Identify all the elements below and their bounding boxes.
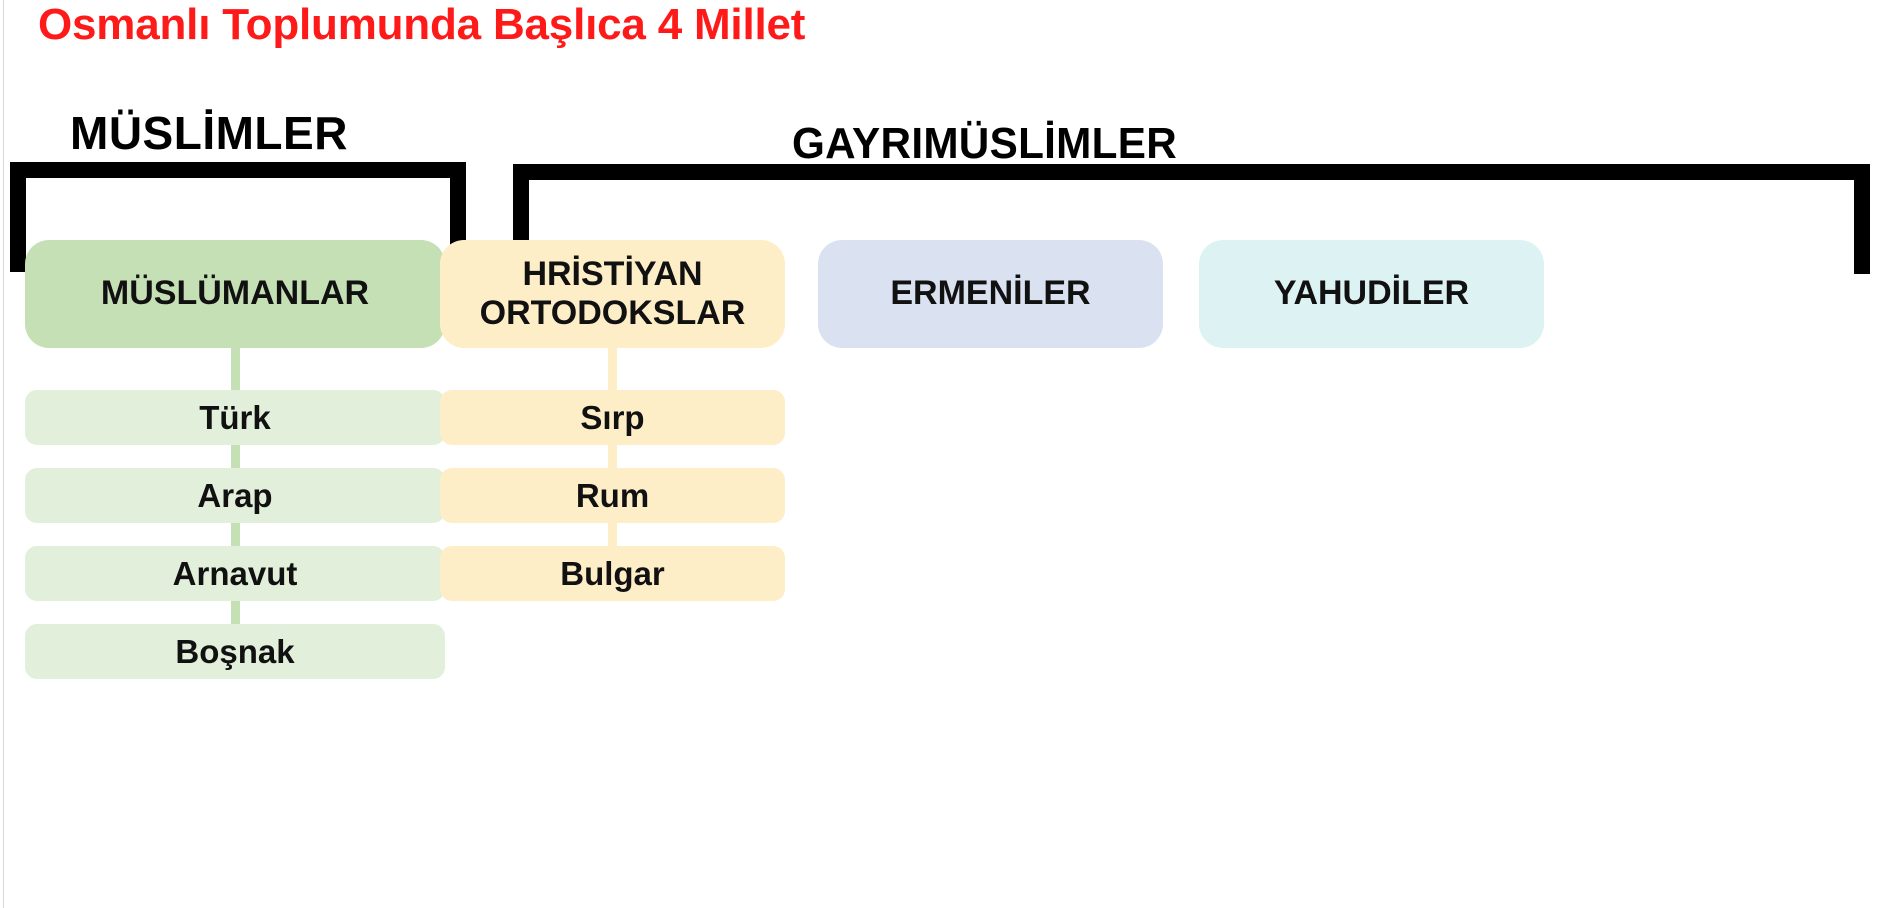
bracket-gayrimuslim-right-tick <box>1854 164 1870 274</box>
node-head-label: MÜSLÜMANLAR <box>101 274 369 313</box>
node-sub-hristiyan-ortodokslar-2[interactable]: Bulgar <box>440 546 785 601</box>
connector-muslumanlar-3 <box>231 601 240 624</box>
node-sub-label: Arnavut <box>173 555 298 593</box>
page-title: Osmanlı Toplumunda Başlıca 4 Millet <box>38 2 805 48</box>
node-sub-muslumanlar-3[interactable]: Boşnak <box>25 624 445 679</box>
node-sub-label: Bulgar <box>560 555 665 593</box>
connector-hristiyan-ortodokslar-1 <box>608 445 617 468</box>
node-head-yahudiler[interactable]: YAHUDİLER <box>1199 240 1544 348</box>
node-sub-label: Türk <box>199 399 271 437</box>
node-sub-muslumanlar-2[interactable]: Arnavut <box>25 546 445 601</box>
node-sub-label: Rum <box>576 477 649 515</box>
node-head-muslumanlar[interactable]: MÜSLÜMANLAR <box>25 240 445 348</box>
connector-hristiyan-ortodokslar-0 <box>608 348 617 390</box>
node-head-label: YAHUDİLER <box>1274 274 1469 313</box>
node-sub-label: Sırp <box>580 399 644 437</box>
connector-hristiyan-ortodokslar-2 <box>608 523 617 546</box>
bracket-muslim-left-tick <box>10 162 26 272</box>
group-label-gayrimuslim: GAYRIMÜSLİMLER <box>792 122 1177 166</box>
node-sub-label: Arap <box>197 477 272 515</box>
node-head-label: HRİSTİYAN ORTODOKSLAR <box>480 255 746 333</box>
node-sub-hristiyan-ortodokslar-0[interactable]: Sırp <box>440 390 785 445</box>
connector-muslumanlar-2 <box>231 523 240 546</box>
bracket-muslim-top-rule <box>10 162 466 178</box>
node-sub-muslumanlar-0[interactable]: Türk <box>25 390 445 445</box>
node-head-label: ERMENİLER <box>890 274 1090 313</box>
bracket-gayrimuslim-top-rule <box>513 164 1870 180</box>
connector-muslumanlar-1 <box>231 445 240 468</box>
node-sub-hristiyan-ortodokslar-1[interactable]: Rum <box>440 468 785 523</box>
node-sub-muslumanlar-1[interactable]: Arap <box>25 468 445 523</box>
node-head-hristiyan-ortodokslar[interactable]: HRİSTİYAN ORTODOKSLAR <box>440 240 785 348</box>
group-label-muslim: MÜSLİMLER <box>70 110 348 156</box>
node-head-ermeniler[interactable]: ERMENİLER <box>818 240 1163 348</box>
page-left-edge <box>3 0 4 908</box>
node-sub-label: Boşnak <box>175 633 294 671</box>
connector-muslumanlar-0 <box>231 348 240 390</box>
slide-canvas: Osmanlı Toplumunda Başlıca 4 Millet MÜSL… <box>0 0 1887 908</box>
